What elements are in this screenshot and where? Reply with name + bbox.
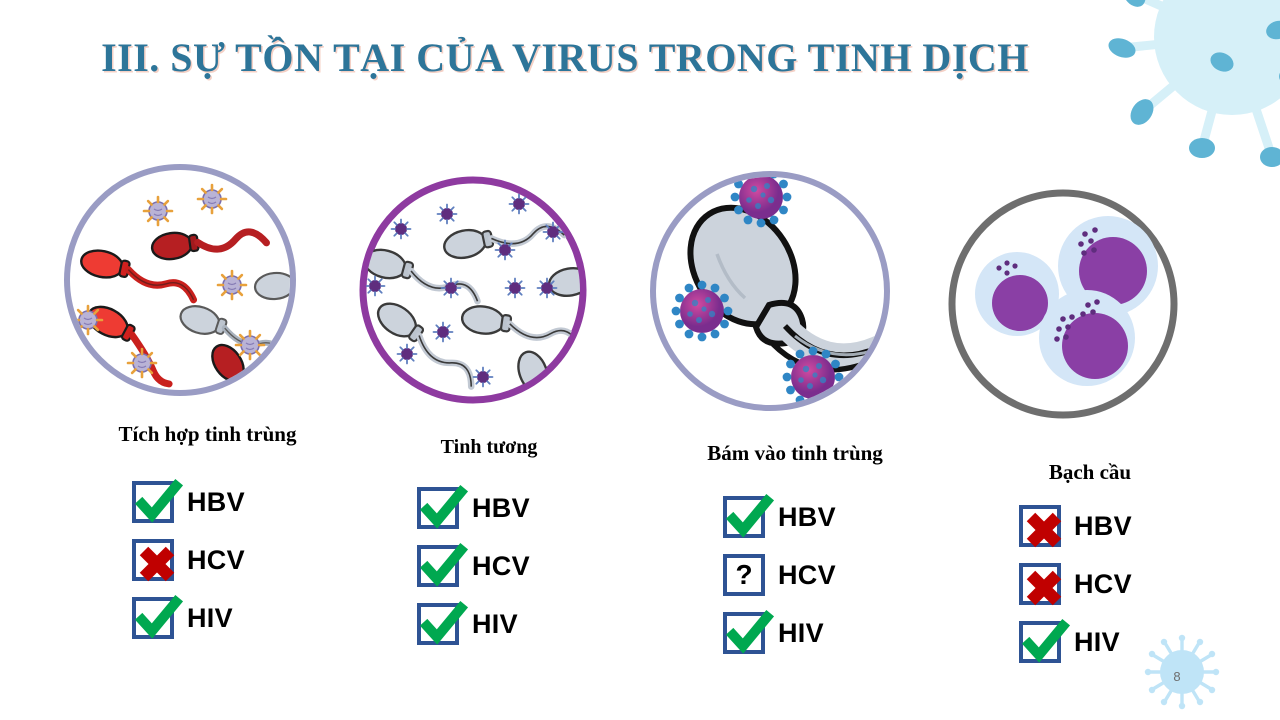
virus-label: HCV [1074, 569, 1132, 600]
check-row: HCV [132, 531, 355, 589]
check-icon [722, 492, 774, 544]
column-label: Bạch cầu [945, 460, 1235, 485]
illustration-leukocytes [945, 186, 1235, 422]
check-row: HBV [417, 479, 623, 537]
check-row: HBV [723, 488, 945, 546]
check-icon [131, 593, 183, 645]
status-box-check[interactable] [723, 496, 765, 538]
check-row: HCV [417, 537, 623, 595]
column-attached-to-sperm: Bám vào tinh trùng HBV ? HCV [645, 160, 945, 662]
virus-label: HBV [472, 493, 530, 524]
check-row: HBV [132, 473, 355, 531]
cross-icon [132, 539, 184, 591]
check-icon [722, 608, 774, 660]
check-row: ? HCV [723, 546, 945, 604]
check-icon [1018, 617, 1070, 669]
status-box-cross[interactable] [132, 539, 174, 581]
check-icon [416, 599, 468, 651]
check-icon [416, 541, 468, 593]
check-row: HIV [132, 589, 355, 647]
check-row: HIV [417, 595, 623, 653]
virus-label: HIV [778, 618, 824, 649]
cross-icon [1019, 563, 1071, 615]
column-label: Tích hợp tinh trùng [60, 422, 355, 447]
checklist: HBV HCV HIV [132, 473, 355, 647]
check-row: HIV [723, 604, 945, 662]
virus-label: HBV [1074, 511, 1132, 542]
status-box-question[interactable]: ? [723, 554, 765, 596]
virus-label: HCV [472, 551, 530, 582]
check-icon [416, 483, 468, 535]
check-row: HCV [1019, 555, 1235, 613]
slide-title: III. SỰ TỒN TẠI CỦA VIRUS TRONG TINH DỊC… [0, 34, 1130, 81]
cross-icon [1019, 505, 1071, 557]
status-box-check[interactable] [1019, 621, 1061, 663]
illustration-seminal-plasma [355, 172, 623, 408]
virus-label: HCV [187, 545, 245, 576]
decorative-virus-icon [1092, 0, 1280, 172]
check-row: HIV [1019, 613, 1235, 671]
column-seminal-plasma: Tinh tương HBV HCV [355, 160, 623, 653]
slide-canvas: III. SỰ TỒN TẠI CỦA VIRUS TRONG TINH DỊC… [0, 0, 1280, 720]
virus-label: HCV [778, 560, 836, 591]
checklist: HBV HCV HIV [417, 479, 623, 653]
check-row: HBV [1019, 497, 1235, 555]
status-box-check[interactable] [132, 481, 174, 523]
check-icon [131, 477, 183, 529]
column-leukocytes: Bạch cầu HBV HCV [945, 160, 1235, 671]
column-label: Bám vào tinh trùng [645, 441, 945, 466]
virus-label: HBV [778, 502, 836, 533]
status-box-check[interactable] [417, 545, 459, 587]
status-box-check[interactable] [132, 597, 174, 639]
virus-label: HBV [187, 487, 245, 518]
question-mark-icon: ? [727, 558, 761, 592]
status-box-check[interactable] [417, 603, 459, 645]
checklist: HBV HCV HIV [1019, 497, 1235, 671]
checklist: HBV ? HCV HIV [723, 488, 945, 662]
virus-label: HIV [187, 603, 233, 634]
status-box-cross[interactable] [1019, 563, 1061, 605]
page-number: 8 [1167, 669, 1187, 684]
virus-label: HIV [472, 609, 518, 640]
illustration-integrated-sperm [60, 160, 355, 400]
illustration-attached-to-sperm [645, 166, 945, 416]
status-box-cross[interactable] [1019, 505, 1061, 547]
columns-container: Tích hợp tinh trùng HBV [0, 160, 1280, 705]
status-box-check[interactable] [723, 612, 765, 654]
status-box-check[interactable] [417, 487, 459, 529]
column-label: Tinh tương [355, 436, 623, 459]
virus-label: HIV [1074, 627, 1120, 658]
column-integrated-sperm: Tích hợp tinh trùng HBV [60, 160, 355, 647]
